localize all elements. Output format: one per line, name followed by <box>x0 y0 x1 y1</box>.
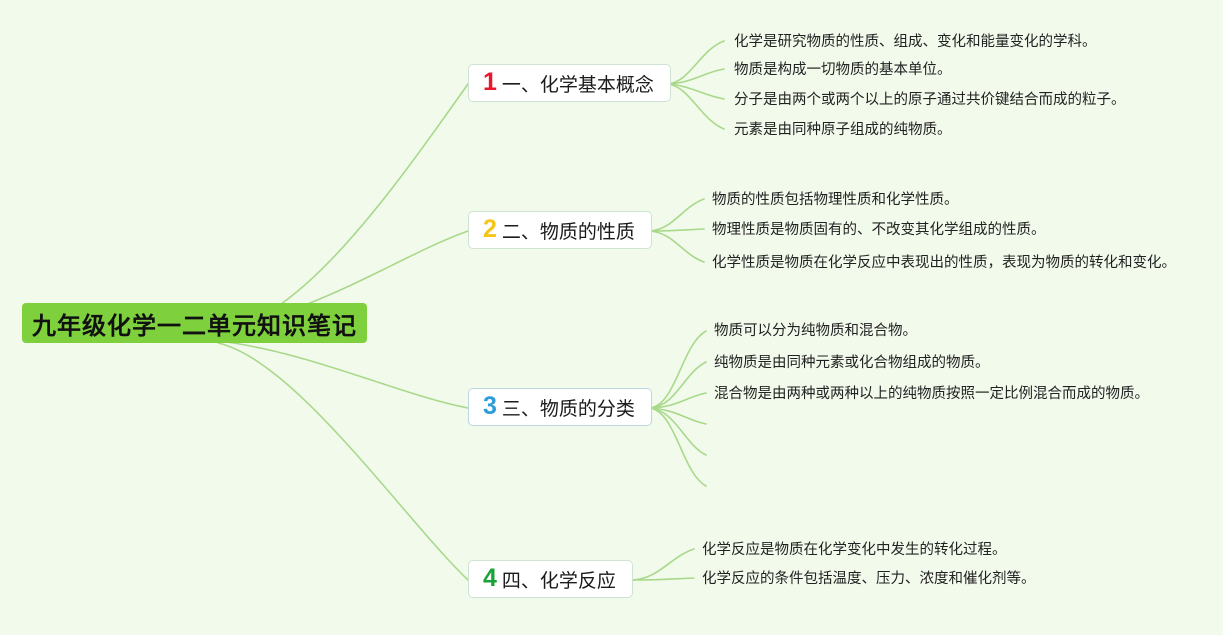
edge-root-to-branch-4 <box>218 343 468 580</box>
edge-branch-3-leaf-5 <box>650 408 706 455</box>
edge-root-to-branch-1 <box>218 84 468 331</box>
branch-node-1[interactable]: 1 一、化学基本概念 <box>468 64 671 102</box>
leaf-item[interactable]: 元素是由同种原子组成的纯物质。 <box>734 123 952 138</box>
leaf-item[interactable]: 混合物是由两种或两种以上的纯物质按照一定比例混合而成的物质。 <box>714 387 1149 402</box>
branch-node-2[interactable]: 2 二、物质的性质 <box>468 211 652 249</box>
edge-branch-1-leaf-2 <box>668 69 724 84</box>
edge-branch-3-leaf-3 <box>650 393 706 408</box>
root-node[interactable]: 九年级化学一二单元知识笔记 <box>22 303 367 343</box>
leaf-item[interactable]: 纯物质是由同种元素或化合物组成的物质。 <box>714 356 990 371</box>
branch-number-3: 3 <box>483 394 497 419</box>
edge-root-to-branch-3 <box>219 341 468 408</box>
edge-branch-3-leaf-1 <box>650 331 706 408</box>
leaf-item[interactable]: 物理性质是物质固有的、不改变其化学组成的性质。 <box>712 223 1046 238</box>
branch-number-4: 4 <box>483 566 497 591</box>
branch-title-3: 三、物质的分类 <box>502 394 635 421</box>
branch-number-1: 1 <box>483 70 497 95</box>
branch-title-4: 四、化学反应 <box>502 566 616 593</box>
branch-node-4[interactable]: 4 四、化学反应 <box>468 560 633 598</box>
edge-branch-1-leaf-1 <box>668 41 724 84</box>
edge-branch-4-leaf-1 <box>633 549 694 580</box>
edge-branch-3-leaf-2 <box>650 362 706 408</box>
leaf-item[interactable]: 物质的性质包括物理性质和化学性质。 <box>712 193 959 208</box>
edge-branch-2-leaf-2 <box>650 229 704 231</box>
leaf-item[interactable]: 化学性质是物质在化学反应中表现出的性质，表现为物质的转化和变化。 <box>712 256 1176 271</box>
root-node-label: 九年级化学一二单元知识笔记 <box>32 306 357 341</box>
leaf-item[interactable]: 化学反应是物质在化学变化中发生的转化过程。 <box>702 543 1007 558</box>
leaf-item[interactable]: 分子是由两个或两个以上的原子通过共价键结合而成的粒子。 <box>734 93 1126 108</box>
edge-branch-3-leaf-6 <box>650 408 706 486</box>
leaf-item[interactable]: 物质是构成一切物质的基本单位。 <box>734 63 952 78</box>
edge-branch-4-leaf-2 <box>633 578 694 580</box>
edge-branch-1-leaf-3 <box>668 84 724 99</box>
leaf-item[interactable]: 化学反应的条件包括温度、压力、浓度和催化剂等。 <box>702 572 1036 587</box>
edge-branch-3-leaf-4 <box>650 408 706 424</box>
leaf-item[interactable]: 化学是研究物质的性质、组成、变化和能量变化的学科。 <box>734 35 1097 50</box>
branch-title-1: 一、化学基本概念 <box>502 70 654 97</box>
branch-title-2: 二、物质的性质 <box>502 217 635 244</box>
edge-branch-2-leaf-1 <box>650 199 704 231</box>
branch-number-2: 2 <box>483 217 497 242</box>
mindmap-canvas: 九年级化学一二单元知识笔记 1 一、化学基本概念 2 二、物质的性质 3 三、物… <box>0 0 1223 635</box>
leaf-item[interactable]: 物质可以分为纯物质和混合物。 <box>714 324 917 339</box>
edge-branch-2-leaf-3 <box>650 231 704 262</box>
branch-node-3[interactable]: 3 三、物质的分类 <box>468 388 652 426</box>
edge-branch-1-leaf-4 <box>668 84 724 129</box>
